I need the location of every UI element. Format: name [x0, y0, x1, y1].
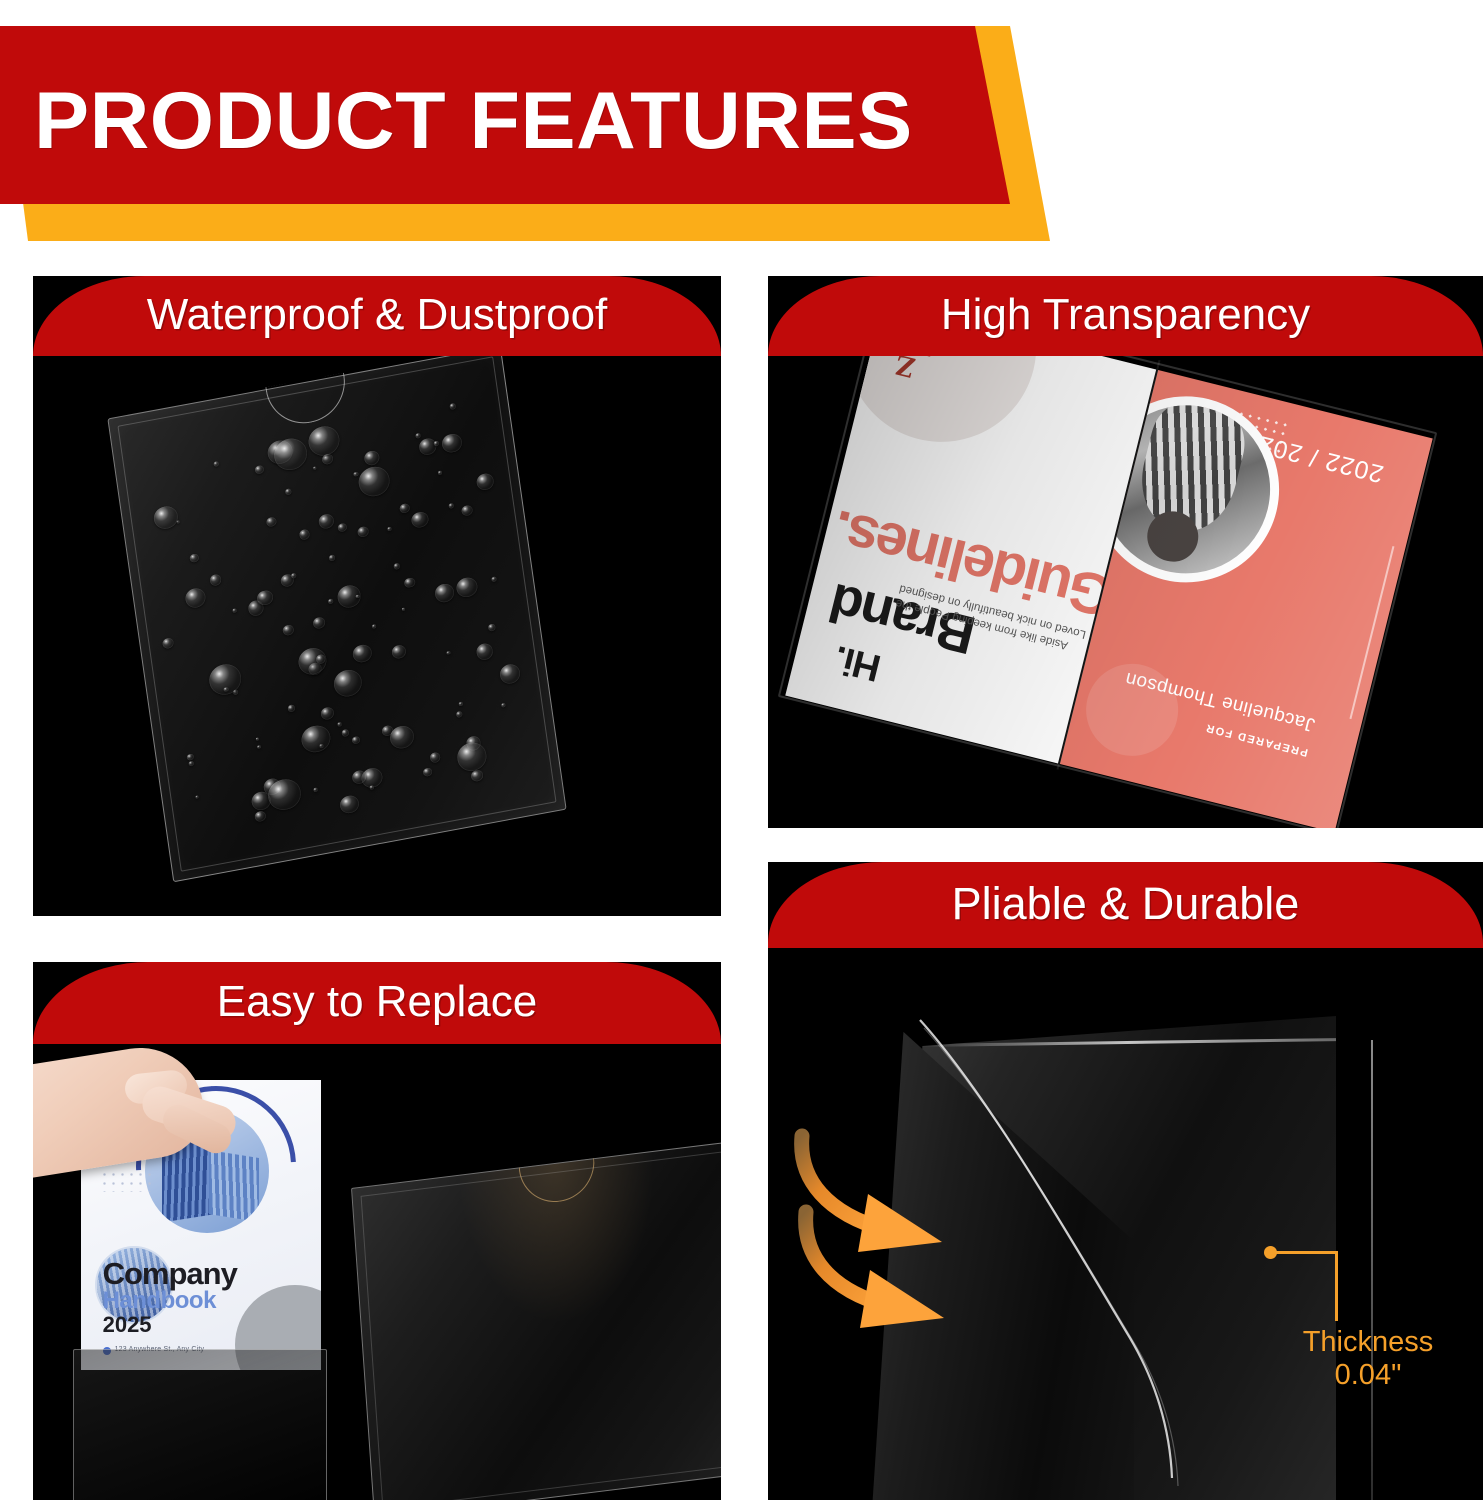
clear-sleeve-holder	[351, 1140, 721, 1500]
sleeve-inner-edge	[361, 1150, 721, 1500]
panel-title-transparency: High Transparency	[941, 291, 1310, 339]
booklet-greeting: Hi.	[831, 636, 886, 689]
feature-panel-pliable-durable: Thickness 0.04" Pliable & Durable	[768, 862, 1483, 1500]
panel-header-transparency: High Transparency	[768, 276, 1483, 356]
feature-panel-easy-to-replace: Company Handbook 2025 123 Anywhere St., …	[33, 962, 721, 1500]
bend-arrow-icon-2	[796, 1196, 1026, 1346]
panel-title-waterproof: Waterproof & Dustproof	[147, 291, 608, 339]
thickness-value: 0.04"	[1283, 1359, 1453, 1392]
panel-visual-transparency: PREPARED FOR Jacqueline Thompson 2022 / …	[768, 276, 1483, 828]
sleeve-pocket-front	[73, 1349, 327, 1500]
brand-guidelines-booklet: PREPARED FOR Jacqueline Thompson 2022 / …	[785, 354, 1432, 828]
handbook-year: 2025	[103, 1312, 152, 1338]
feature-panel-high-transparency: PREPARED FOR Jacqueline Thompson 2022 / …	[768, 276, 1483, 828]
flexible-sheet-fold: Thickness 0.04"	[768, 948, 1483, 1500]
panel-visual-waterproof	[33, 276, 721, 916]
thickness-label: Thickness	[1303, 1326, 1434, 1358]
panel-header-waterproof: Waterproof & Dustproof	[33, 276, 721, 356]
water-droplet	[337, 722, 341, 726]
decorative-circle-gray	[826, 354, 1056, 462]
panel-title-pliable: Pliable & Durable	[952, 880, 1300, 928]
decorative-rule	[1350, 546, 1395, 720]
sheet-right-edge	[1371, 1040, 1373, 1500]
panel-header-pliable: Pliable & Durable	[768, 862, 1483, 948]
thickness-leader-vertical	[1335, 1251, 1338, 1321]
handbook-subtitle: Handbook	[103, 1287, 216, 1315]
hand-icon	[33, 1050, 263, 1230]
thickness-text: Thickness 0.04"	[1283, 1326, 1453, 1392]
acrylic-sheet	[107, 346, 566, 883]
page-title: PRODUCT FEATURES	[34, 78, 913, 164]
acrylic-sheet-with-droplets	[95, 372, 655, 892]
water-droplet	[370, 786, 374, 790]
thickness-leader-horizontal	[1275, 1251, 1337, 1254]
panel-visual-pliable: Thickness 0.04"	[768, 862, 1483, 1500]
brand-guidelines-booklet-wrap: PREPARED FOR Jacqueline Thompson 2022 / …	[768, 354, 1483, 828]
feature-panel-waterproof-dustproof: Waterproof & Dustproof	[33, 276, 721, 916]
page-header-banner: PRODUCT FEATURES	[0, 26, 1070, 241]
infographic-canvas: PRODUCT FEATURES Waterproof & Dustproof	[0, 0, 1483, 1500]
panel-header-easy-replace: Easy to Replace	[33, 962, 721, 1044]
panel-title-easy-replace: Easy to Replace	[217, 978, 537, 1026]
